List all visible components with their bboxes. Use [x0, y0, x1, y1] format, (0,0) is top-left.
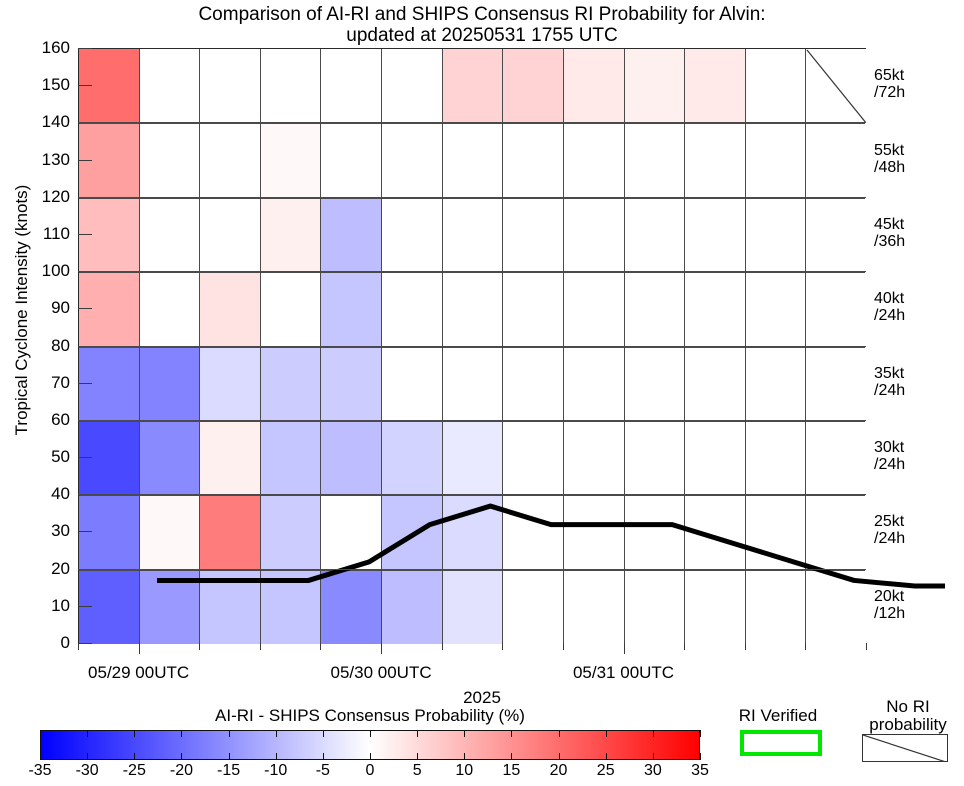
heatmap-row-gridline — [79, 198, 865, 199]
y-tick — [78, 606, 92, 607]
y-tick-label: 10 — [24, 597, 70, 614]
heatmap-cell — [685, 347, 746, 421]
heatmap-cell — [443, 421, 504, 495]
y-gridline — [78, 569, 866, 570]
y-tick-label: 160 — [24, 39, 70, 56]
y-gridline — [78, 494, 866, 495]
colorbar-tick — [370, 730, 371, 737]
y-axis-title: Tropical Cyclone Intensity (knots) — [12, 100, 32, 520]
heatmap-cell — [503, 272, 564, 346]
heatmap-cell — [625, 49, 686, 123]
heatmap-cell — [564, 347, 625, 421]
heatmap-cell — [564, 272, 625, 346]
page-title: Comparison of AI-RI and SHIPS Consensus … — [0, 4, 964, 46]
colorbar-tick — [700, 753, 701, 760]
colorbar-tick — [276, 753, 277, 760]
heatmap-cell — [746, 272, 807, 346]
heatmap-cell — [200, 198, 261, 272]
heatmap-cell — [140, 272, 201, 346]
x-tick — [320, 643, 321, 650]
x-tick-label: 05/31 00UTC — [534, 663, 714, 683]
colorbar-tick — [40, 730, 41, 737]
y-gridline — [78, 420, 866, 421]
colorbar-tick — [417, 753, 418, 760]
heatmap-cell — [746, 421, 807, 495]
heatmap-cell — [685, 421, 746, 495]
colorbar-tick — [229, 730, 230, 737]
y-tick-label: 30 — [24, 522, 70, 539]
heatmap-cell — [564, 49, 625, 123]
y-gridline — [78, 197, 866, 198]
colorbar-tick-label: -25 — [109, 762, 159, 780]
heatmap-cell — [79, 347, 140, 421]
heatmap-cell — [685, 495, 746, 569]
y-gridline — [78, 122, 866, 123]
heatmap-cell — [261, 421, 322, 495]
heatmap-cell — [140, 495, 201, 569]
heatmap-cell — [503, 49, 564, 123]
colorbar-tick — [653, 730, 654, 737]
y-tick — [78, 160, 92, 161]
heatmap-cell — [140, 347, 201, 421]
heatmap-cell — [200, 272, 261, 346]
colorbar-tick — [276, 730, 277, 737]
colorbar-tick — [181, 730, 182, 737]
heatmap-cell — [806, 198, 867, 272]
heatmap-cell — [261, 347, 322, 421]
heatmap-row-gridline — [79, 421, 865, 422]
heatmap-cell — [685, 198, 746, 272]
heatmap-cell — [321, 347, 382, 421]
heatmap-cell — [140, 123, 201, 197]
colorbar-tick — [229, 753, 230, 760]
x-tick — [502, 643, 503, 650]
right-axis-tick-label: 35kt /24h — [874, 365, 905, 399]
right-axis-tick-label: 25kt /24h — [874, 513, 905, 547]
heatmap-cell — [200, 421, 261, 495]
colorbar-tick-label: -30 — [62, 762, 112, 780]
heatmap-cell — [625, 198, 686, 272]
heatmap-row-gridline — [79, 272, 865, 273]
right-axis-tick-label: 45kt /36h — [874, 216, 905, 250]
x-tick-major — [139, 643, 140, 654]
colorbar-tick — [40, 753, 41, 760]
heatmap-cell — [625, 272, 686, 346]
heatmap-cell — [79, 123, 140, 197]
colorbar-tick — [464, 730, 465, 737]
heatmap-cell — [443, 198, 504, 272]
heatmap-cell — [746, 123, 807, 197]
right-axis-tick-label: 65kt /72h — [874, 67, 905, 101]
colorbar-tick — [653, 753, 654, 760]
no-ri-diagonal-icon — [806, 49, 867, 123]
heatmap-cell — [806, 347, 867, 421]
colorbar-tick — [511, 753, 512, 760]
colorbar-tick-label: -5 — [298, 762, 348, 780]
heatmap-cell — [443, 347, 504, 421]
heatmap-cell — [443, 495, 504, 569]
heatmap-cell — [382, 570, 443, 644]
heatmap-cell — [806, 272, 867, 346]
heatmap-cell — [79, 570, 140, 644]
heatmap-cell — [261, 123, 322, 197]
heatmap-row-gridline — [79, 495, 865, 496]
heatmap-cell — [79, 495, 140, 569]
y-gridline — [78, 271, 866, 272]
x-tick — [684, 643, 685, 650]
heatmap-cell — [382, 123, 443, 197]
heatmap-cell — [503, 570, 564, 644]
right-axis-tick-label: 55kt /48h — [874, 142, 905, 176]
heatmap-cell — [321, 421, 382, 495]
heatmap-cell — [200, 49, 261, 123]
heatmap-cell — [321, 272, 382, 346]
colorbar-ticks — [40, 730, 700, 760]
heatmap-cell — [79, 421, 140, 495]
y-tick — [78, 308, 92, 309]
colorbar-tick — [606, 753, 607, 760]
heatmap-cell — [625, 123, 686, 197]
colorbar-tick — [323, 753, 324, 760]
x-tick-label: 05/30 00UTC — [291, 663, 471, 683]
colorbar-tick-label: 5 — [392, 762, 442, 780]
heatmap-cell — [261, 272, 322, 346]
colorbar-tick — [700, 730, 701, 737]
heatmap-cell — [564, 123, 625, 197]
y-tick — [78, 457, 92, 458]
heatmap-cell — [685, 570, 746, 644]
ri-verified-label: RI Verified — [718, 706, 838, 726]
x-axis-year: 2025 — [0, 688, 964, 708]
colorbar-tick — [181, 753, 182, 760]
heatmap-cell — [261, 49, 322, 123]
heatmap-cell — [382, 49, 443, 123]
heatmap-cell — [746, 495, 807, 569]
heatmap-cell — [79, 198, 140, 272]
colorbar-tick — [370, 753, 371, 760]
heatmap-cell — [261, 495, 322, 569]
x-tick — [199, 643, 200, 650]
heatmap-cell — [746, 49, 807, 123]
colorbar-tick-label: 30 — [628, 762, 678, 780]
heatmap-cell — [806, 421, 867, 495]
heatmap-cell — [503, 347, 564, 421]
colorbar-tick-label: 0 — [345, 762, 395, 780]
y-tick — [78, 234, 92, 235]
heatmap-cell — [443, 49, 504, 123]
colorbar-tick — [87, 753, 88, 760]
colorbar-tick — [464, 753, 465, 760]
no-ri-diagonal-icon — [863, 735, 948, 762]
heatmap-row-gridline — [79, 347, 865, 348]
heatmap-cell — [200, 347, 261, 421]
colorbar-tick — [511, 730, 512, 737]
colorbar-tick-label: 15 — [486, 762, 536, 780]
heatmap-cell — [200, 570, 261, 644]
heatmap-cell — [321, 49, 382, 123]
no-ri-label: No RI probability — [852, 698, 964, 734]
heatmap-cell — [140, 198, 201, 272]
heatmap-cell — [321, 495, 382, 569]
right-axis-tick-label: 40kt /24h — [874, 290, 905, 324]
heatmap-cell — [321, 198, 382, 272]
y-tick — [78, 383, 92, 384]
colorbar-title: AI-RI - SHIPS Consensus Probability (%) — [0, 706, 740, 726]
heatmap-cell — [564, 198, 625, 272]
heatmap-cell — [746, 347, 807, 421]
y-tick — [78, 531, 92, 532]
heatmap-cell — [261, 570, 322, 644]
heatmap-row-gridline — [79, 570, 865, 571]
heatmap-cell — [79, 49, 140, 123]
y-tick — [78, 48, 92, 49]
heatmap-cell — [746, 570, 807, 644]
colorbar-tick — [134, 730, 135, 737]
colorbar-tick-label: 20 — [534, 762, 584, 780]
heatmap-cell — [806, 495, 867, 569]
heatmap-cell — [382, 421, 443, 495]
heatmap-cell — [443, 570, 504, 644]
heatmap-cell — [503, 123, 564, 197]
heatmap-cell — [140, 570, 201, 644]
colorbar-tick — [417, 730, 418, 737]
heatmap-cell — [321, 570, 382, 644]
y-tick-label: 150 — [24, 76, 70, 93]
heatmap-cell — [382, 272, 443, 346]
colorbar-tick-label: -20 — [156, 762, 206, 780]
heatmap-cell — [503, 495, 564, 569]
x-tick — [442, 643, 443, 650]
colorbar-tick-label: 35 — [675, 762, 725, 780]
heatmap-cell — [503, 421, 564, 495]
x-tick — [78, 643, 79, 650]
no-ri-swatch — [862, 734, 948, 762]
heatmap-cell — [382, 347, 443, 421]
heatmap-cell — [200, 495, 261, 569]
heatmap-cell — [625, 495, 686, 569]
x-tick — [866, 643, 867, 650]
heatmap-cell — [564, 421, 625, 495]
heatmap-row-gridline — [79, 123, 865, 124]
heatmap-cell — [382, 198, 443, 272]
heatmap-cell — [564, 570, 625, 644]
heatmap-cell — [79, 272, 140, 346]
colorbar-tick — [606, 730, 607, 737]
y-tick — [78, 85, 92, 86]
heatmap-cell — [321, 123, 382, 197]
colorbar-tick-label: -15 — [204, 762, 254, 780]
heatmap-cell — [564, 495, 625, 569]
y-gridline — [78, 346, 866, 347]
heatmap-cell — [382, 495, 443, 569]
heatmap-cell — [746, 198, 807, 272]
colorbar-tick — [87, 730, 88, 737]
heatmap-cell — [685, 123, 746, 197]
heatmap-cell — [503, 198, 564, 272]
heatmap-cell — [625, 570, 686, 644]
right-axis-tick-label: 30kt /24h — [874, 439, 905, 473]
x-tick — [805, 643, 806, 650]
heatmap-cell — [806, 570, 867, 644]
heatmap-cell — [625, 347, 686, 421]
x-tick-major — [624, 643, 625, 654]
y-tick — [78, 643, 92, 644]
colorbar-tick-label: -10 — [251, 762, 301, 780]
colorbar-tick — [559, 730, 560, 737]
heatmap-cell — [443, 123, 504, 197]
heatmap-cell — [443, 272, 504, 346]
heatmap-cell — [625, 421, 686, 495]
ri-verified-swatch — [740, 730, 822, 756]
x-tick-label: 05/29 00UTC — [49, 663, 229, 683]
x-tick — [745, 643, 746, 650]
right-axis-tick-label: 20kt /12h — [874, 588, 905, 622]
y-tick-label: 20 — [24, 560, 70, 577]
colorbar-tick — [559, 753, 560, 760]
heatmap-cell — [685, 49, 746, 123]
colorbar-tick — [323, 730, 324, 737]
heatmap-cell — [200, 123, 261, 197]
heatmap-cell — [685, 272, 746, 346]
colorbar-tick — [134, 753, 135, 760]
heatmap-cell — [140, 421, 201, 495]
heatmap-cell — [806, 123, 867, 197]
colorbar-tick-label: 10 — [439, 762, 489, 780]
x-tick-major — [381, 643, 382, 654]
colorbar-tick-label: 25 — [581, 762, 631, 780]
heatmap-cell — [261, 198, 322, 272]
colorbar-tick-label: -35 — [15, 762, 65, 780]
x-tick — [563, 643, 564, 650]
heatmap-cell — [140, 49, 201, 123]
y-tick-label: 0 — [24, 634, 70, 651]
x-tick — [260, 643, 261, 650]
